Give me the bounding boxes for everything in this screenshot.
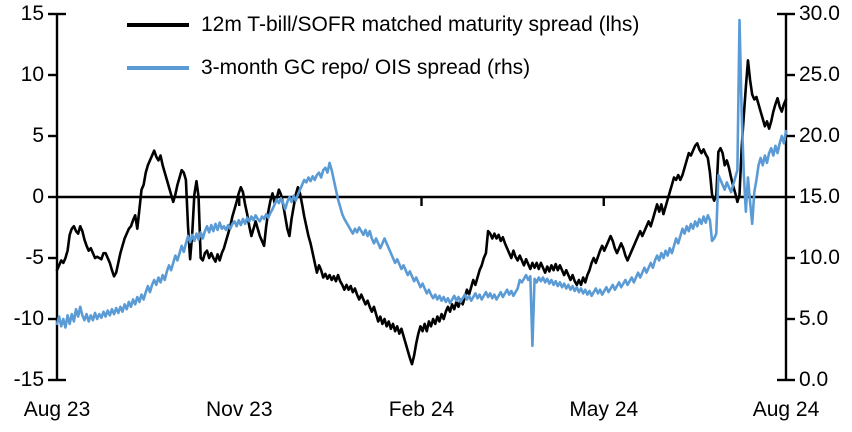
- legend-swatch-tbill-sofr: [127, 23, 189, 27]
- legend-entry-tbill-sofr: 12m T-bill/SOFR matched maturity spread …: [127, 14, 639, 35]
- legend-label-gc-repo-ois: 3-month GC repo/ OIS spread (rhs): [201, 57, 530, 78]
- x-axis-tick-aug-24: Aug 24: [736, 399, 836, 420]
- y-axis-right-tick-0p0: 0.0: [799, 369, 828, 390]
- legend-label-tbill-sofr: 12m T-bill/SOFR matched maturity spread …: [201, 14, 639, 35]
- x-axis-tick-aug-23: Aug 23: [7, 399, 107, 420]
- y-axis-left-tick-5: 5: [0, 125, 44, 146]
- y-axis-left-tick-neg5: -5: [0, 247, 44, 268]
- chart-container: 151050-5-10-15 30.025.020.015.010.05.00.…: [0, 0, 852, 432]
- x-axis-tick-feb-24: Feb 24: [372, 399, 472, 420]
- y-axis-right-tick-15p0: 15.0: [799, 186, 840, 207]
- x-axis-tick-may-24: May 24: [554, 399, 654, 420]
- y-axis-left-tick-10: 10: [0, 64, 44, 85]
- y-axis-right-tick-20p0: 20.0: [799, 125, 840, 146]
- legend-entry-gc-repo-ois: 3-month GC repo/ OIS spread (rhs): [127, 57, 530, 78]
- y-axis-right-tick-10p0: 10.0: [799, 247, 840, 268]
- y-axis-right-tick-25p0: 25.0: [799, 64, 840, 85]
- y-axis-left-tick-neg10: -10: [0, 308, 44, 329]
- x-axis-tick-nov-23: Nov 23: [189, 399, 289, 420]
- legend-swatch-gc-repo-ois: [127, 66, 189, 70]
- y-axis-left-tick-15: 15: [0, 3, 44, 24]
- y-axis-right-tick-30p0: 30.0: [799, 3, 840, 24]
- y-axis-right-tick-5p0: 5.0: [799, 308, 828, 329]
- y-axis-left-tick-neg15: -15: [0, 369, 44, 390]
- y-axis-left-tick-0: 0: [0, 186, 44, 207]
